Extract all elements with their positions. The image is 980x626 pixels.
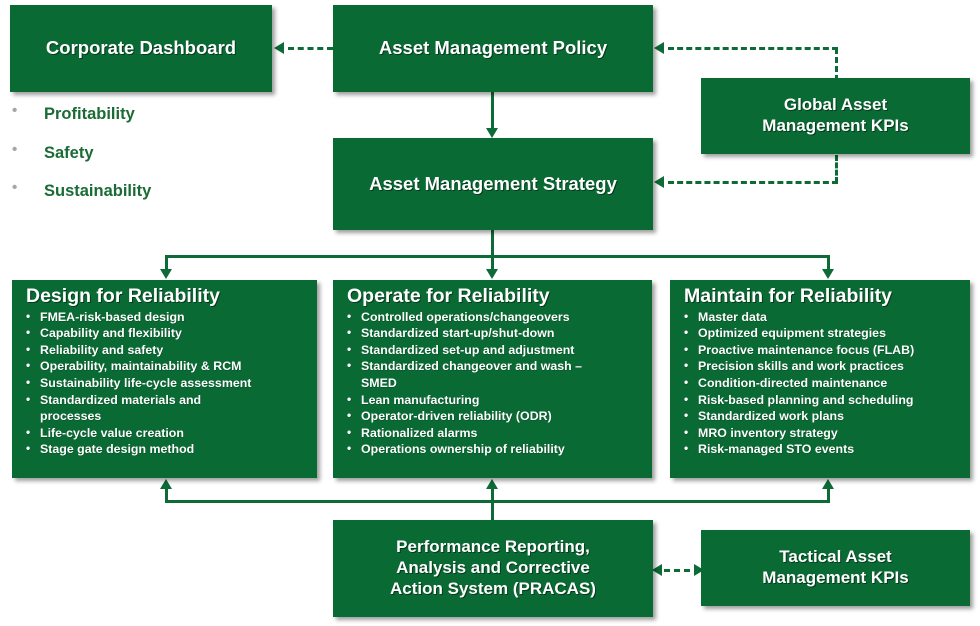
- tactical-kpis-line2: Management KPIs: [762, 568, 908, 587]
- pillar-item-label: Condition-directed maintenance: [698, 376, 887, 390]
- pillar-item-label: Reliability and safety: [40, 343, 163, 357]
- pillar-item-label: Standardized start-up/shut-down: [361, 326, 554, 340]
- list-item: Sustainability: [0, 183, 270, 200]
- global-kpis-line2: Management KPIs: [762, 116, 908, 135]
- list-item: FMEA-risk-based design: [20, 309, 311, 326]
- list-item: Standardized start-up/shut-down: [341, 325, 646, 342]
- pillar-item-label: processes: [40, 409, 101, 423]
- operate-for-reliability-heading: Operate for Reliability: [347, 286, 646, 308]
- connector-policy-to-strategy-arrowhead: [486, 128, 498, 138]
- list-item: Standardized changeover and wash –: [341, 358, 646, 375]
- asset-management-strategy-label: Asset Management Strategy: [369, 173, 617, 196]
- pillar-item-label: Operations ownership of reliability: [361, 442, 565, 456]
- box-tactical-asset-management-kpis[interactable]: Tactical Asset Management KPIs: [701, 530, 970, 606]
- global-kpis-label: Global Asset Management KPIs: [762, 95, 908, 136]
- list-item: Rationalized alarms: [341, 425, 646, 442]
- connector-strategy-to-design-arrowhead: [160, 269, 172, 279]
- design-for-reliability-list: FMEA-risk-based design Capability and fl…: [20, 309, 311, 458]
- maintain-for-reliability-list: Master data Optimized equipment strategi…: [678, 309, 964, 458]
- maintain-for-reliability-heading: Maintain for Reliability: [684, 286, 964, 308]
- pillar-item-label: Proactive maintenance focus (FLAB): [698, 343, 914, 357]
- pillar-item-label: Lean manufacturing: [361, 393, 479, 407]
- connector-pracas-tactical-arrowhead-left: [652, 564, 662, 576]
- corporate-dashboard-label: Corporate Dashboard: [46, 37, 236, 60]
- pillar-item-label: Operator-driven reliability (ODR): [361, 409, 552, 423]
- box-asset-management-policy[interactable]: Asset Management Policy: [333, 5, 653, 92]
- pillar-item-label: Standardized changeover and wash –: [361, 359, 582, 373]
- list-item: Risk-based planning and scheduling: [678, 392, 964, 409]
- pillar-item-label: Capability and flexibility: [40, 326, 182, 340]
- box-pracas[interactable]: Performance Reporting, Analysis and Corr…: [333, 520, 653, 617]
- tactical-kpis-line1: Tactical Asset: [779, 547, 891, 566]
- pillar-item-label: FMEA-risk-based design: [40, 310, 185, 324]
- connector-strategy-branch-bar: [165, 255, 830, 258]
- list-item: Operator-driven reliability (ODR): [341, 408, 646, 425]
- list-item: Risk-managed STO events: [678, 441, 964, 458]
- list-item: Operations ownership of reliability: [341, 441, 646, 458]
- pracas-label: Performance Reporting, Analysis and Corr…: [390, 537, 596, 599]
- box-operate-for-reliability[interactable]: Operate for Reliability Controlled opera…: [333, 280, 652, 478]
- list-item: Lean manufacturing: [341, 392, 646, 409]
- box-maintain-for-reliability[interactable]: Maintain for Reliability Master data Opt…: [670, 280, 970, 478]
- pillar-item-label: Precision skills and work practices: [698, 359, 904, 373]
- connector-globalkpis-to-policy-line: [668, 47, 838, 50]
- pillar-item-label: Rationalized alarms: [361, 426, 477, 440]
- connector-globalkpis-to-policy-arrowhead: [654, 42, 664, 54]
- list-item: Safety: [0, 145, 270, 162]
- pillar-item-label: SMED: [361, 376, 397, 390]
- list-item: Reliability and safety: [20, 342, 311, 359]
- connector-pracas-branch-bar: [165, 500, 830, 503]
- connector-pracas-to-maintain-riser: [827, 488, 830, 502]
- connector-globalkpis-to-strategy-line: [668, 181, 838, 184]
- pillar-item-label: Controlled operations/changeovers: [361, 310, 570, 324]
- list-item: Optimized equipment strategies: [678, 325, 964, 342]
- dashboard-metric-label: Profitability: [44, 105, 135, 123]
- diagram-canvas: Corporate Dashboard Asset Management Pol…: [0, 0, 980, 626]
- box-global-asset-management-kpis[interactable]: Global Asset Management KPIs: [701, 78, 970, 154]
- list-item-continuation: SMED: [341, 375, 646, 392]
- list-item: Condition-directed maintenance: [678, 375, 964, 392]
- list-item: Standardized work plans: [678, 408, 964, 425]
- asset-management-policy-label: Asset Management Policy: [379, 37, 607, 60]
- box-asset-management-strategy[interactable]: Asset Management Strategy: [333, 138, 653, 230]
- connector-strategy-to-maintain-arrowhead: [822, 269, 834, 279]
- connector-globalkpis-to-policy-riser: [835, 48, 838, 81]
- list-item: Precision skills and work practices: [678, 358, 964, 375]
- pillar-item-label: Stage gate design method: [40, 442, 194, 456]
- pillar-item-label: MRO inventory strategy: [698, 426, 838, 440]
- pillar-item-label: Risk-managed STO events: [698, 442, 854, 456]
- pillar-item-label: Risk-based planning and scheduling: [698, 393, 914, 407]
- connector-pracas-to-operate-riser: [491, 488, 494, 502]
- design-for-reliability-heading: Design for Reliability: [26, 286, 311, 308]
- pillar-item-label: Operability, maintainability & RCM: [40, 359, 242, 373]
- list-item: Proactive maintenance focus (FLAB): [678, 342, 964, 359]
- dashboard-metric-label: Safety: [44, 144, 94, 162]
- pillar-item-label: Life-cycle value creation: [40, 426, 184, 440]
- list-item-continuation: processes: [20, 408, 311, 425]
- connector-policy-to-strategy-line: [491, 92, 494, 130]
- connector-globalkpis-to-strategy-riser: [835, 155, 838, 183]
- global-kpis-line1: Global Asset: [784, 95, 887, 114]
- connector-policy-to-dashboard-line: [288, 47, 333, 50]
- list-item: MRO inventory strategy: [678, 425, 964, 442]
- list-item: Operability, maintainability & RCM: [20, 358, 311, 375]
- list-item: Stage gate design method: [20, 441, 311, 458]
- dashboard-metric-label: Sustainability: [44, 182, 151, 200]
- connector-pracas-to-operate-arrowhead: [486, 479, 498, 489]
- dashboard-metrics-list: Profitability Safety Sustainability: [0, 106, 270, 222]
- list-item: Sustainability life-cycle assessment: [20, 375, 311, 392]
- connector-strategy-to-operate-arrowhead: [486, 269, 498, 279]
- connector-policy-to-dashboard-arrowhead: [274, 42, 284, 54]
- pillar-item-label: Sustainability life-cycle assessment: [40, 376, 251, 390]
- list-item: Life-cycle value creation: [20, 425, 311, 442]
- pillar-item-label: Standardized work plans: [698, 409, 844, 423]
- pracas-line1: Performance Reporting,: [396, 537, 590, 556]
- connector-pracas-to-design-riser: [165, 488, 168, 502]
- list-item: Controlled operations/changeovers: [341, 309, 646, 326]
- pillar-item-label: Master data: [698, 310, 767, 324]
- box-corporate-dashboard[interactable]: Corporate Dashboard: [10, 5, 272, 92]
- pillar-item-label: Standardized set-up and adjustment: [361, 343, 574, 357]
- connector-pracas-to-design-arrowhead: [160, 479, 172, 489]
- pracas-line2: Analysis and Corrective: [396, 558, 590, 577]
- connector-globalkpis-to-strategy-arrowhead: [654, 176, 664, 188]
- list-item: Standardized materials and: [20, 392, 311, 409]
- list-item: Profitability: [0, 106, 270, 123]
- connector-strategy-trunk: [491, 230, 494, 256]
- box-design-for-reliability[interactable]: Design for Reliability FMEA-risk-based d…: [12, 280, 317, 478]
- pillar-item-label: Optimized equipment strategies: [698, 326, 886, 340]
- list-item: Capability and flexibility: [20, 325, 311, 342]
- operate-for-reliability-list: Controlled operations/changeovers Standa…: [341, 309, 646, 458]
- tactical-kpis-label: Tactical Asset Management KPIs: [762, 547, 908, 588]
- pillar-item-label: Standardized materials and: [40, 393, 201, 407]
- list-item: Master data: [678, 309, 964, 326]
- pracas-line3: Action System (PRACAS): [390, 579, 596, 598]
- connector-pracas-to-maintain-arrowhead: [822, 479, 834, 489]
- list-item: Standardized set-up and adjustment: [341, 342, 646, 359]
